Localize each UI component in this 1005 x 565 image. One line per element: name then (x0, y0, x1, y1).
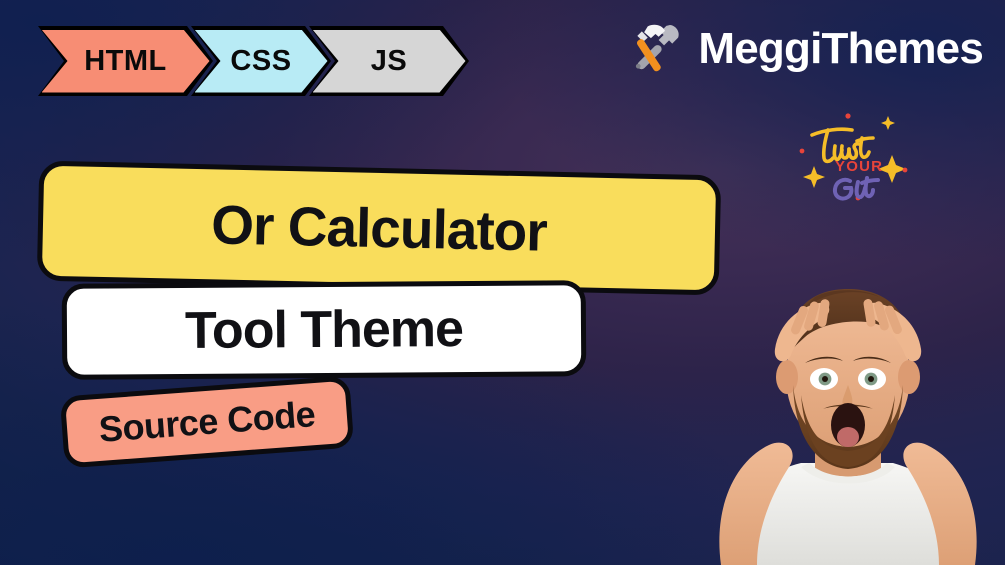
page-subtitle: Tool Theme (185, 299, 463, 361)
page-title: Or Calculator (211, 192, 548, 263)
tech-chip-label: CSS (230, 45, 291, 78)
brand-logo[interactable]: MeggiThemes (626, 20, 983, 78)
thumbnail-canvas: HTML CSS JS (0, 0, 1005, 565)
title-banner: Or Calculator (37, 161, 721, 296)
avatar-photo (685, 245, 1005, 565)
brand-name: MeggiThemes (698, 27, 983, 71)
tech-chip-label: JS (371, 45, 407, 78)
subtitle-banner: Tool Theme (62, 280, 587, 380)
svg-text:YOUR: YOUR (835, 158, 883, 175)
tech-chip-label: HTML (84, 45, 167, 78)
chevron-right-icon: JS (313, 30, 466, 93)
chevron-right-icon: HTML (42, 30, 210, 93)
chevron-right-icon: CSS (195, 30, 328, 93)
tech-chip-html[interactable]: HTML (38, 26, 213, 96)
source-code-label: Source Code (97, 393, 316, 451)
trust-your-gut-sticker: YOUR (788, 108, 918, 203)
hammer-wrench-icon (626, 20, 684, 78)
tech-stack-strip: HTML CSS JS (38, 26, 469, 96)
tech-chip-js[interactable]: JS (309, 26, 469, 96)
